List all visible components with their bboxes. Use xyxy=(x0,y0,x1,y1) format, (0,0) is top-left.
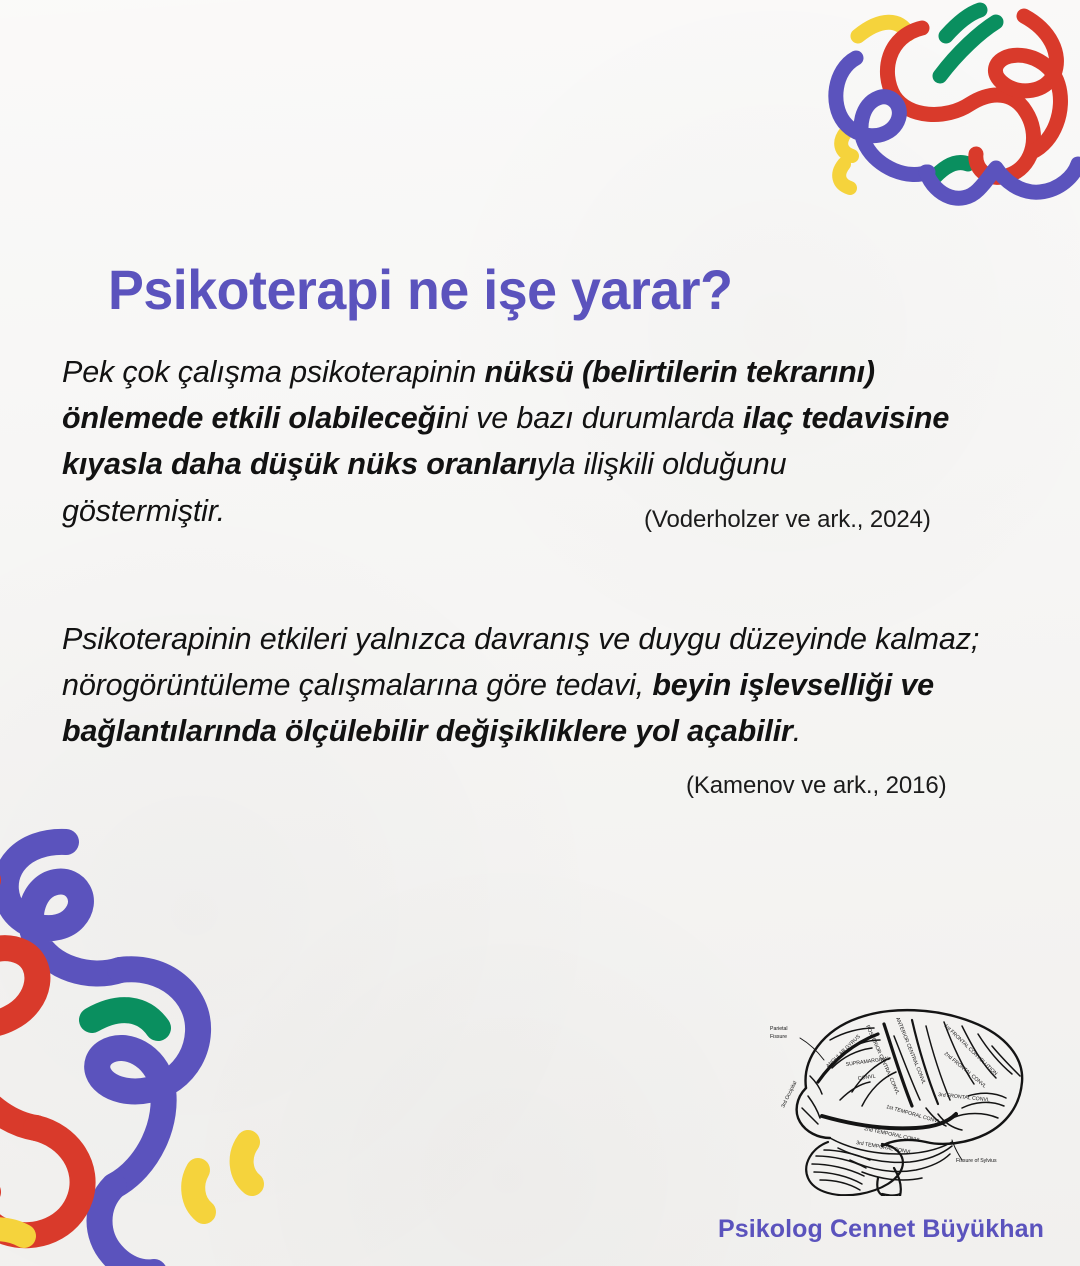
citation-1: (Voderholzer ve ark., 2024) xyxy=(644,506,931,534)
paragraph-2: Psikoterapinin etkileri yalnızca davranı… xyxy=(62,616,980,755)
citation-2: (Kamenov ve ark., 2016) xyxy=(686,772,947,800)
poster-content: Psikoterapi ne işe yarar? Pek çok çalışm… xyxy=(0,0,1080,1266)
page-title: Psikoterapi ne işe yarar? xyxy=(108,260,732,320)
poster-canvas: Parietal Fissure ANGULAR GYRUS SUPRAMARG… xyxy=(0,0,1080,1266)
author-signature: Psikolog Cennet Büyükhan xyxy=(718,1215,1044,1244)
